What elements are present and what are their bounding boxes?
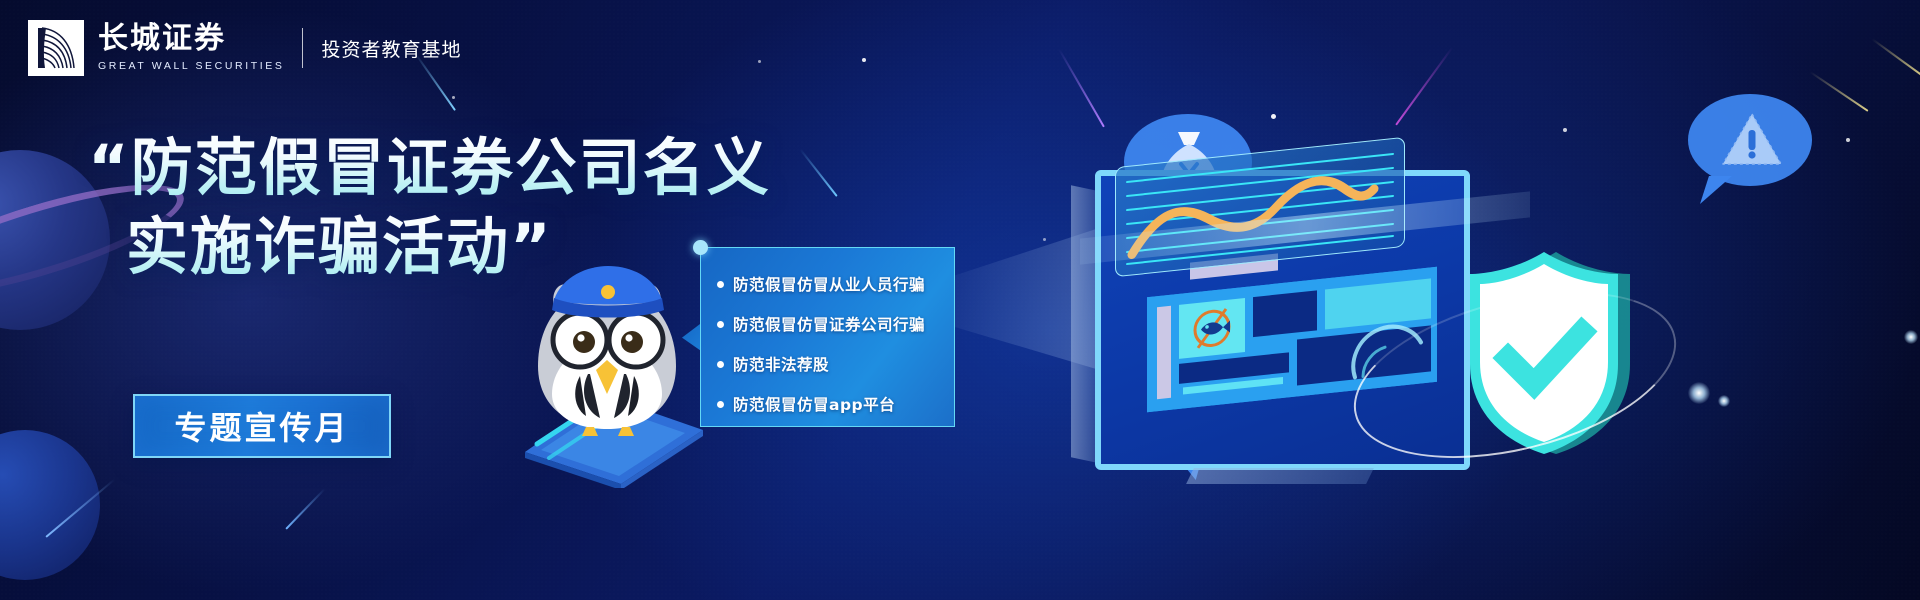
glow-dot	[1688, 382, 1710, 404]
star-dot	[862, 58, 866, 62]
headline-line-1: “防范假冒证券公司名义	[88, 128, 771, 207]
shooting-star-streak	[1871, 38, 1920, 78]
star-dot	[1271, 114, 1276, 119]
tile-sidebar-strip	[1157, 306, 1171, 399]
monitor-stand	[1186, 468, 1374, 484]
police-owl-mascot-icon	[520, 248, 695, 438]
star-dot	[1043, 238, 1046, 241]
star-dot	[1563, 128, 1567, 132]
monitor-side-panel	[1071, 185, 1097, 463]
bullet-dot-icon	[717, 361, 724, 368]
shooting-star-streak	[1058, 49, 1105, 128]
list-item-label: 防范假冒仿冒app平台	[733, 393, 895, 415]
star-dot	[452, 96, 455, 99]
brand-logo[interactable]: 长城证券 GREAT WALL SECURITIES 投资者教育基地	[28, 20, 461, 76]
no-phishing-fish-icon	[1185, 304, 1239, 354]
brand-name-cn: 长城证券	[98, 24, 284, 54]
panel-corner-dot	[693, 240, 708, 255]
brand-name-en: GREAT WALL SECURITIES	[98, 60, 284, 72]
prevention-list-panel: 防范假冒仿冒从业人员行骗 防范假冒仿冒证券公司行骗 防范非法荐股 防范假冒仿冒a…	[700, 247, 955, 427]
campaign-cta-label: 专题宣传月	[174, 403, 349, 449]
glow-dot	[1904, 330, 1918, 344]
warning-triangle-icon	[1720, 110, 1784, 168]
brand-subtitle: 投资者教育基地	[321, 35, 461, 62]
tile-dark-upper-right	[1253, 290, 1317, 337]
list-item-label: 防范非法荐股	[733, 353, 829, 375]
shooting-star-streak	[799, 148, 838, 197]
bullet-dot-icon	[717, 401, 724, 408]
list-item[interactable]: 防范假冒仿冒app平台	[717, 384, 954, 424]
great-wall-globe-icon	[28, 20, 84, 76]
bullet-dot-icon	[717, 321, 724, 328]
star-dot	[1846, 138, 1850, 142]
promo-banner: 长城证券 GREAT WALL SECURITIES 投资者教育基地 “防范假冒…	[0, 0, 1920, 600]
campaign-cta-button[interactable]: 专题宣传月	[133, 394, 391, 458]
logo-divider	[302, 28, 303, 68]
list-item[interactable]: 防范假冒仿冒从业人员行骗	[717, 264, 954, 304]
list-item[interactable]: 防范非法荐股	[717, 344, 954, 384]
prevention-list: 防范假冒仿冒从业人员行骗 防范假冒仿冒证券公司行骗 防范非法荐股 防范假冒仿冒a…	[701, 248, 954, 424]
star-dot	[758, 60, 761, 63]
shooting-star-streak	[285, 488, 325, 530]
list-item-label: 防范假冒仿冒从业人员行骗	[733, 273, 925, 295]
bullet-dot-icon	[717, 281, 724, 288]
warning-bubble-tail	[1700, 176, 1732, 204]
shooting-star-streak	[1809, 71, 1868, 112]
glow-dot	[1718, 395, 1730, 407]
list-item[interactable]: 防范假冒仿冒证券公司行骗	[717, 304, 954, 344]
list-item-label: 防范假冒仿冒证券公司行骗	[733, 313, 925, 335]
shooting-star-streak	[1395, 47, 1453, 126]
